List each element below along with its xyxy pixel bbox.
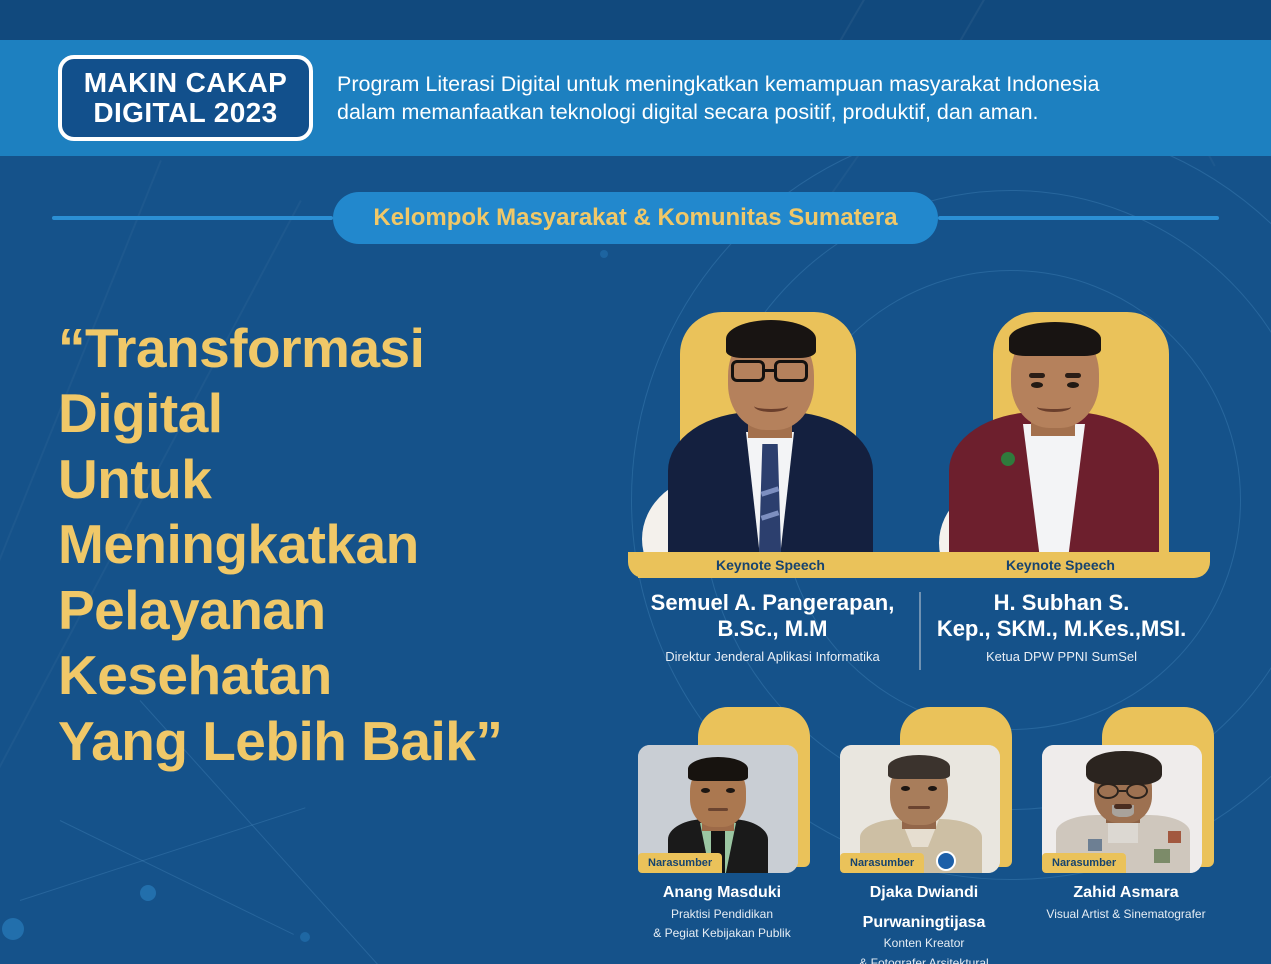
background-node-dot xyxy=(2,918,24,940)
section-title-row: Kelompok Masyarakat & Komunitas Sumatera xyxy=(0,190,1271,246)
keynote-photo-subhan xyxy=(919,276,1204,578)
narasumber-role-line-2: & Fotografer Arsitektural xyxy=(830,956,1018,964)
rule-right xyxy=(938,216,1219,220)
narasumber-card-zahid: Narasumber Zahid Asmara Visual Artist & … xyxy=(1032,701,1220,964)
portrait-eyebrow-right xyxy=(1065,373,1081,378)
keynote-name-row: Semuel A. Pangerapan, B.Sc., M.M Direktu… xyxy=(628,590,1228,665)
portrait-eye-left xyxy=(1031,382,1043,388)
headline-line: Kesehatan xyxy=(58,643,638,708)
shirt-pattern-block xyxy=(1168,831,1181,843)
background-connector-line xyxy=(20,807,306,901)
tagline-line-2: dalam memanfaatkan teknologi digital sec… xyxy=(337,98,1099,126)
portrait-eye-right xyxy=(726,788,735,793)
keynote-name-divider xyxy=(919,592,921,670)
narasumber-photo-zahid: Narasumber xyxy=(1032,701,1220,873)
portrait-smile xyxy=(754,400,788,412)
portrait-smile xyxy=(1037,402,1071,412)
narasumber-row: Narasumber Anang Masduki Praktisi Pendid… xyxy=(628,701,1228,964)
portrait-glasses-right xyxy=(774,360,808,382)
portrait-subhan xyxy=(919,276,1204,578)
header-band: MAKIN CAKAP DIGITAL 2023 Program Literas… xyxy=(0,40,1271,156)
narasumber-name-zahid: Zahid Asmara xyxy=(1032,883,1220,903)
keynote-badge-subhan: Keynote Speech xyxy=(928,552,1193,578)
poster-headline: “Transformasi Digital Untuk Meningkatkan… xyxy=(58,316,638,774)
keynote-role-subhan: Ketua DPW PPNI SumSel xyxy=(923,649,1200,665)
portrait-lapel-pin xyxy=(1001,452,1015,466)
narasumber-name-line-2: Purwaningtijasa xyxy=(830,913,1018,933)
shirt-pattern-block xyxy=(1088,839,1102,851)
keynote-name-line-2: B.Sc., M.M xyxy=(634,616,911,642)
headline-line: “Transformasi xyxy=(58,316,638,381)
narasumber-name-anang: Anang Masduki xyxy=(628,883,816,903)
portrait-eye-left xyxy=(901,786,910,791)
narasumber-badge-zahid: Narasumber xyxy=(1042,853,1126,873)
portrait-glasses-left xyxy=(1097,783,1119,799)
headline-line: Yang Lebih Baik” xyxy=(58,709,638,774)
keynote-name-block-semuel: Semuel A. Pangerapan, B.Sc., M.M Direktu… xyxy=(628,590,917,665)
portrait-eye-right xyxy=(1067,382,1079,388)
headline-line: Digital xyxy=(58,381,638,446)
keynote-name-line-2: Kep., SKM., M.Kes.,MSI. xyxy=(923,616,1200,642)
rule-left xyxy=(52,216,333,220)
portrait-mouth xyxy=(908,806,930,809)
narasumber-photo-anang: Narasumber xyxy=(628,701,816,873)
narasumber-name-line-1: Djaka Dwiandi xyxy=(830,883,1018,903)
portrait-semuel xyxy=(628,276,913,578)
portrait-glasses-left xyxy=(731,360,765,382)
keynote-photo-semuel xyxy=(628,276,913,578)
background-node-dot xyxy=(300,932,310,942)
keynote-badge-semuel: Keynote Speech xyxy=(638,552,903,578)
narasumber-role-line-1: Konten Kreator xyxy=(830,936,1018,952)
headline-line: Untuk xyxy=(58,447,638,512)
portrait-glasses-right xyxy=(1126,783,1148,799)
portrait-curly-hair xyxy=(1086,751,1162,785)
portrait-glasses-bridge xyxy=(765,369,774,372)
section-pill-label: Kelompok Masyarakat & Komunitas Sumatera xyxy=(333,192,937,244)
headline-line: Meningkatkan xyxy=(58,512,638,577)
portrait-hair xyxy=(888,755,950,779)
organization-emblem-icon xyxy=(936,851,956,871)
headline-line: Pelayanan xyxy=(58,578,638,643)
narasumber-badge-djaka: Narasumber xyxy=(840,853,924,873)
portrait-mouth xyxy=(708,808,728,811)
keynote-role-semuel: Direktur Jenderal Aplikasi Informatika xyxy=(634,649,911,665)
narasumber-role-line-1: Praktisi Pendidikan xyxy=(628,907,816,923)
portrait-eyebrow-left xyxy=(1029,373,1045,378)
logo-line-2: DIGITAL 2023 xyxy=(93,98,277,128)
portrait-glasses-bridge xyxy=(1119,790,1126,793)
program-logo: MAKIN CAKAP DIGITAL 2023 xyxy=(58,55,313,141)
logo-line-1: MAKIN CAKAP xyxy=(84,68,288,98)
narasumber-role-line-2: & Pegiat Kebijakan Publik xyxy=(628,926,816,942)
background-node-dot xyxy=(140,885,156,901)
portrait-eye-right xyxy=(928,786,937,791)
portrait-eye-left xyxy=(701,788,710,793)
speakers-section: Keynote Speech Keynote Speech Semuel A. … xyxy=(628,276,1228,964)
narasumber-card-djaka: Narasumber Djaka Dwiandi Purwaningtijasa… xyxy=(830,701,1018,964)
background-connector-line xyxy=(60,820,294,935)
portrait-hair xyxy=(688,757,748,781)
background-node-dot xyxy=(600,250,608,258)
keynote-name-line-1: Semuel A. Pangerapan, xyxy=(634,590,911,616)
poster-root: MAKIN CAKAP DIGITAL 2023 Program Literas… xyxy=(0,0,1271,964)
program-tagline: Program Literasi Digital untuk meningkat… xyxy=(337,70,1099,127)
portrait-mouth xyxy=(1114,804,1132,809)
keynote-name-line-1: H. Subhan S. xyxy=(923,590,1200,616)
tagline-line-1: Program Literasi Digital untuk meningkat… xyxy=(337,70,1099,98)
keynote-name-block-subhan: H. Subhan S. Kep., SKM., M.Kes.,MSI. Ket… xyxy=(917,590,1206,665)
narasumber-role-zahid: Visual Artist & Sinematografer xyxy=(1032,907,1220,923)
portrait-hair xyxy=(1009,322,1101,356)
shirt-pattern-block xyxy=(1154,849,1170,863)
narasumber-photo-djaka: Narasumber xyxy=(830,701,1018,873)
narasumber-card-anang: Narasumber Anang Masduki Praktisi Pendid… xyxy=(628,701,816,964)
keynote-photo-row: Keynote Speech Keynote Speech xyxy=(628,276,1228,578)
narasumber-badge-anang: Narasumber xyxy=(638,853,722,873)
portrait-hair xyxy=(726,320,816,358)
top-strip xyxy=(0,0,1271,40)
